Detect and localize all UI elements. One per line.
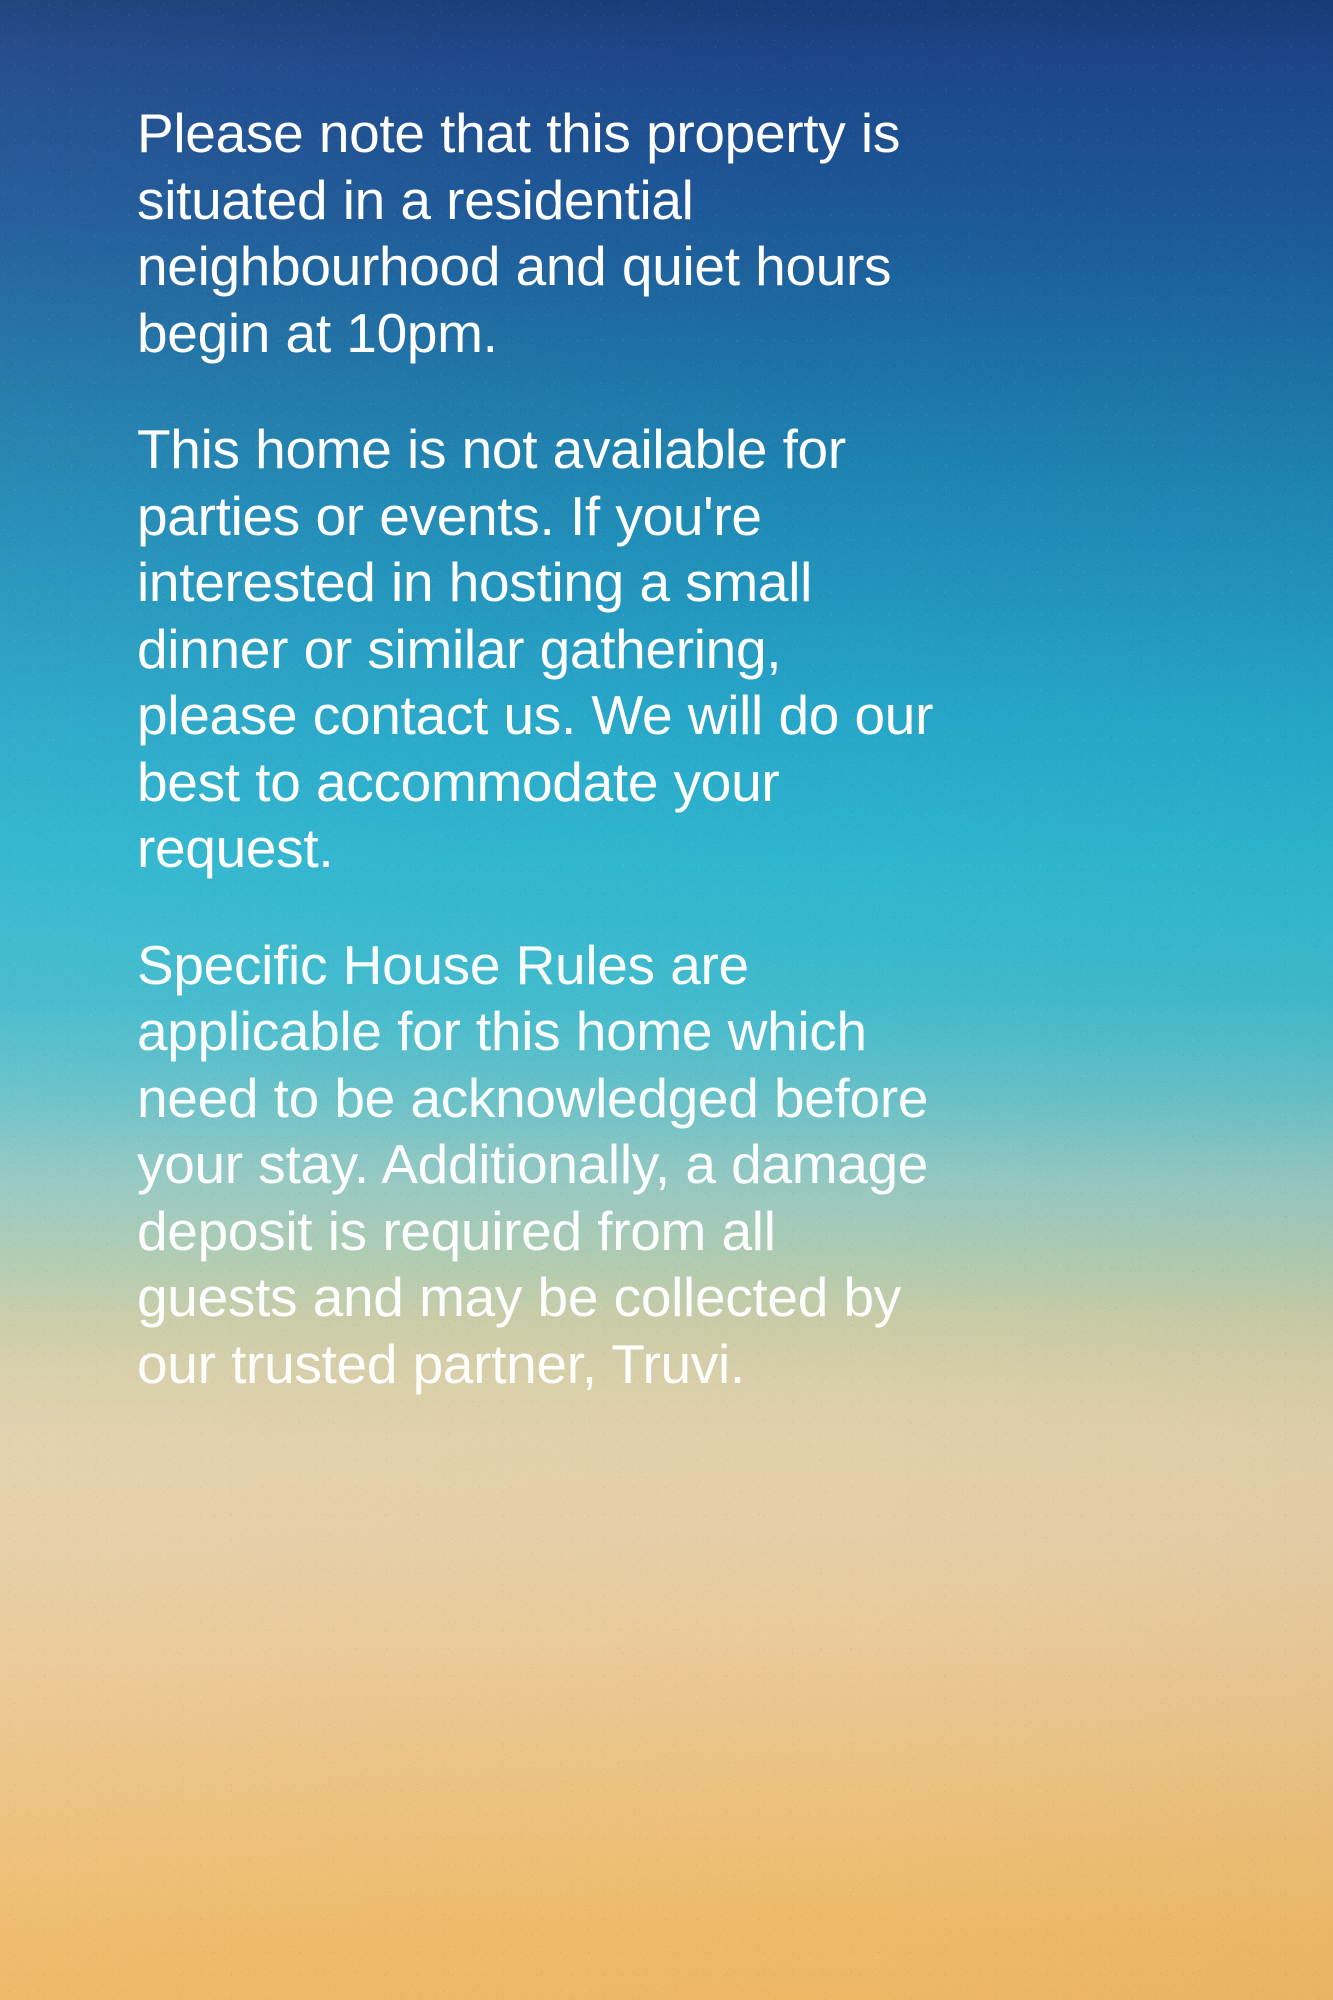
paragraph-specific-rules-and-deposit: Specific House Rules are applicable for … <box>137 932 947 1398</box>
paragraph-quiet-hours: Please note that this property is situat… <box>137 100 947 366</box>
notice-text-block: Please note that this property is situat… <box>137 100 947 1397</box>
notice-canvas: Please note that this property is situat… <box>0 0 1333 2000</box>
paragraph-no-parties: This home is not available for parties o… <box>137 416 947 882</box>
